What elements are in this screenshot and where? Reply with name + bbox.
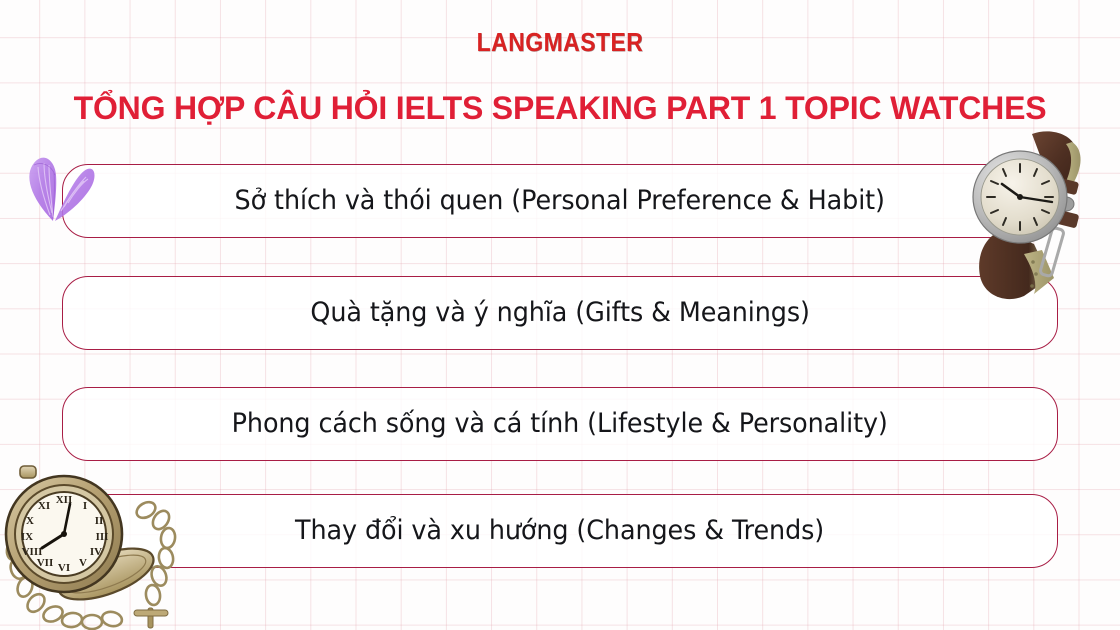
svg-text:VII: VII [37, 557, 54, 569]
slide-canvas: LANGMASTER TỔNG HỢP CÂU HỎI IELTS SPEAKI… [0, 0, 1120, 630]
topic-box-1[interactable]: Sở thích và thói quen (Personal Preferen… [62, 164, 1058, 238]
svg-text:X: X [26, 515, 34, 527]
svg-text:IX: IX [21, 531, 33, 543]
svg-text:XI: XI [38, 500, 50, 512]
topic-label-3: Phong cách sống và cá tính (Lifestyle & … [232, 411, 888, 438]
topic-box-4[interactable]: Thay đổi và xu hướng (Changes & Trends) [62, 494, 1058, 568]
topic-label-4: Thay đổi và xu hướng (Changes & Trends) [295, 518, 824, 545]
topic-label-1: Sở thích và thói quen (Personal Preferen… [235, 188, 885, 215]
topic-box-2[interactable]: Quà tặng và ý nghĩa (Gifts & Meanings) [62, 276, 1058, 350]
topic-label-2: Quà tặng và ý nghĩa (Gifts & Meanings) [310, 300, 809, 327]
topic-box-3[interactable]: Phong cách sống và cá tính (Lifestyle & … [62, 387, 1058, 461]
svg-text:VIII: VIII [22, 546, 43, 558]
page-title: TỔNG HỢP CÂU HỎI IELTS SPEAKING PART 1 T… [8, 90, 1111, 127]
svg-text:VI: VI [58, 562, 70, 574]
langmaster-logo: LANGMASTER [67, 29, 1053, 55]
